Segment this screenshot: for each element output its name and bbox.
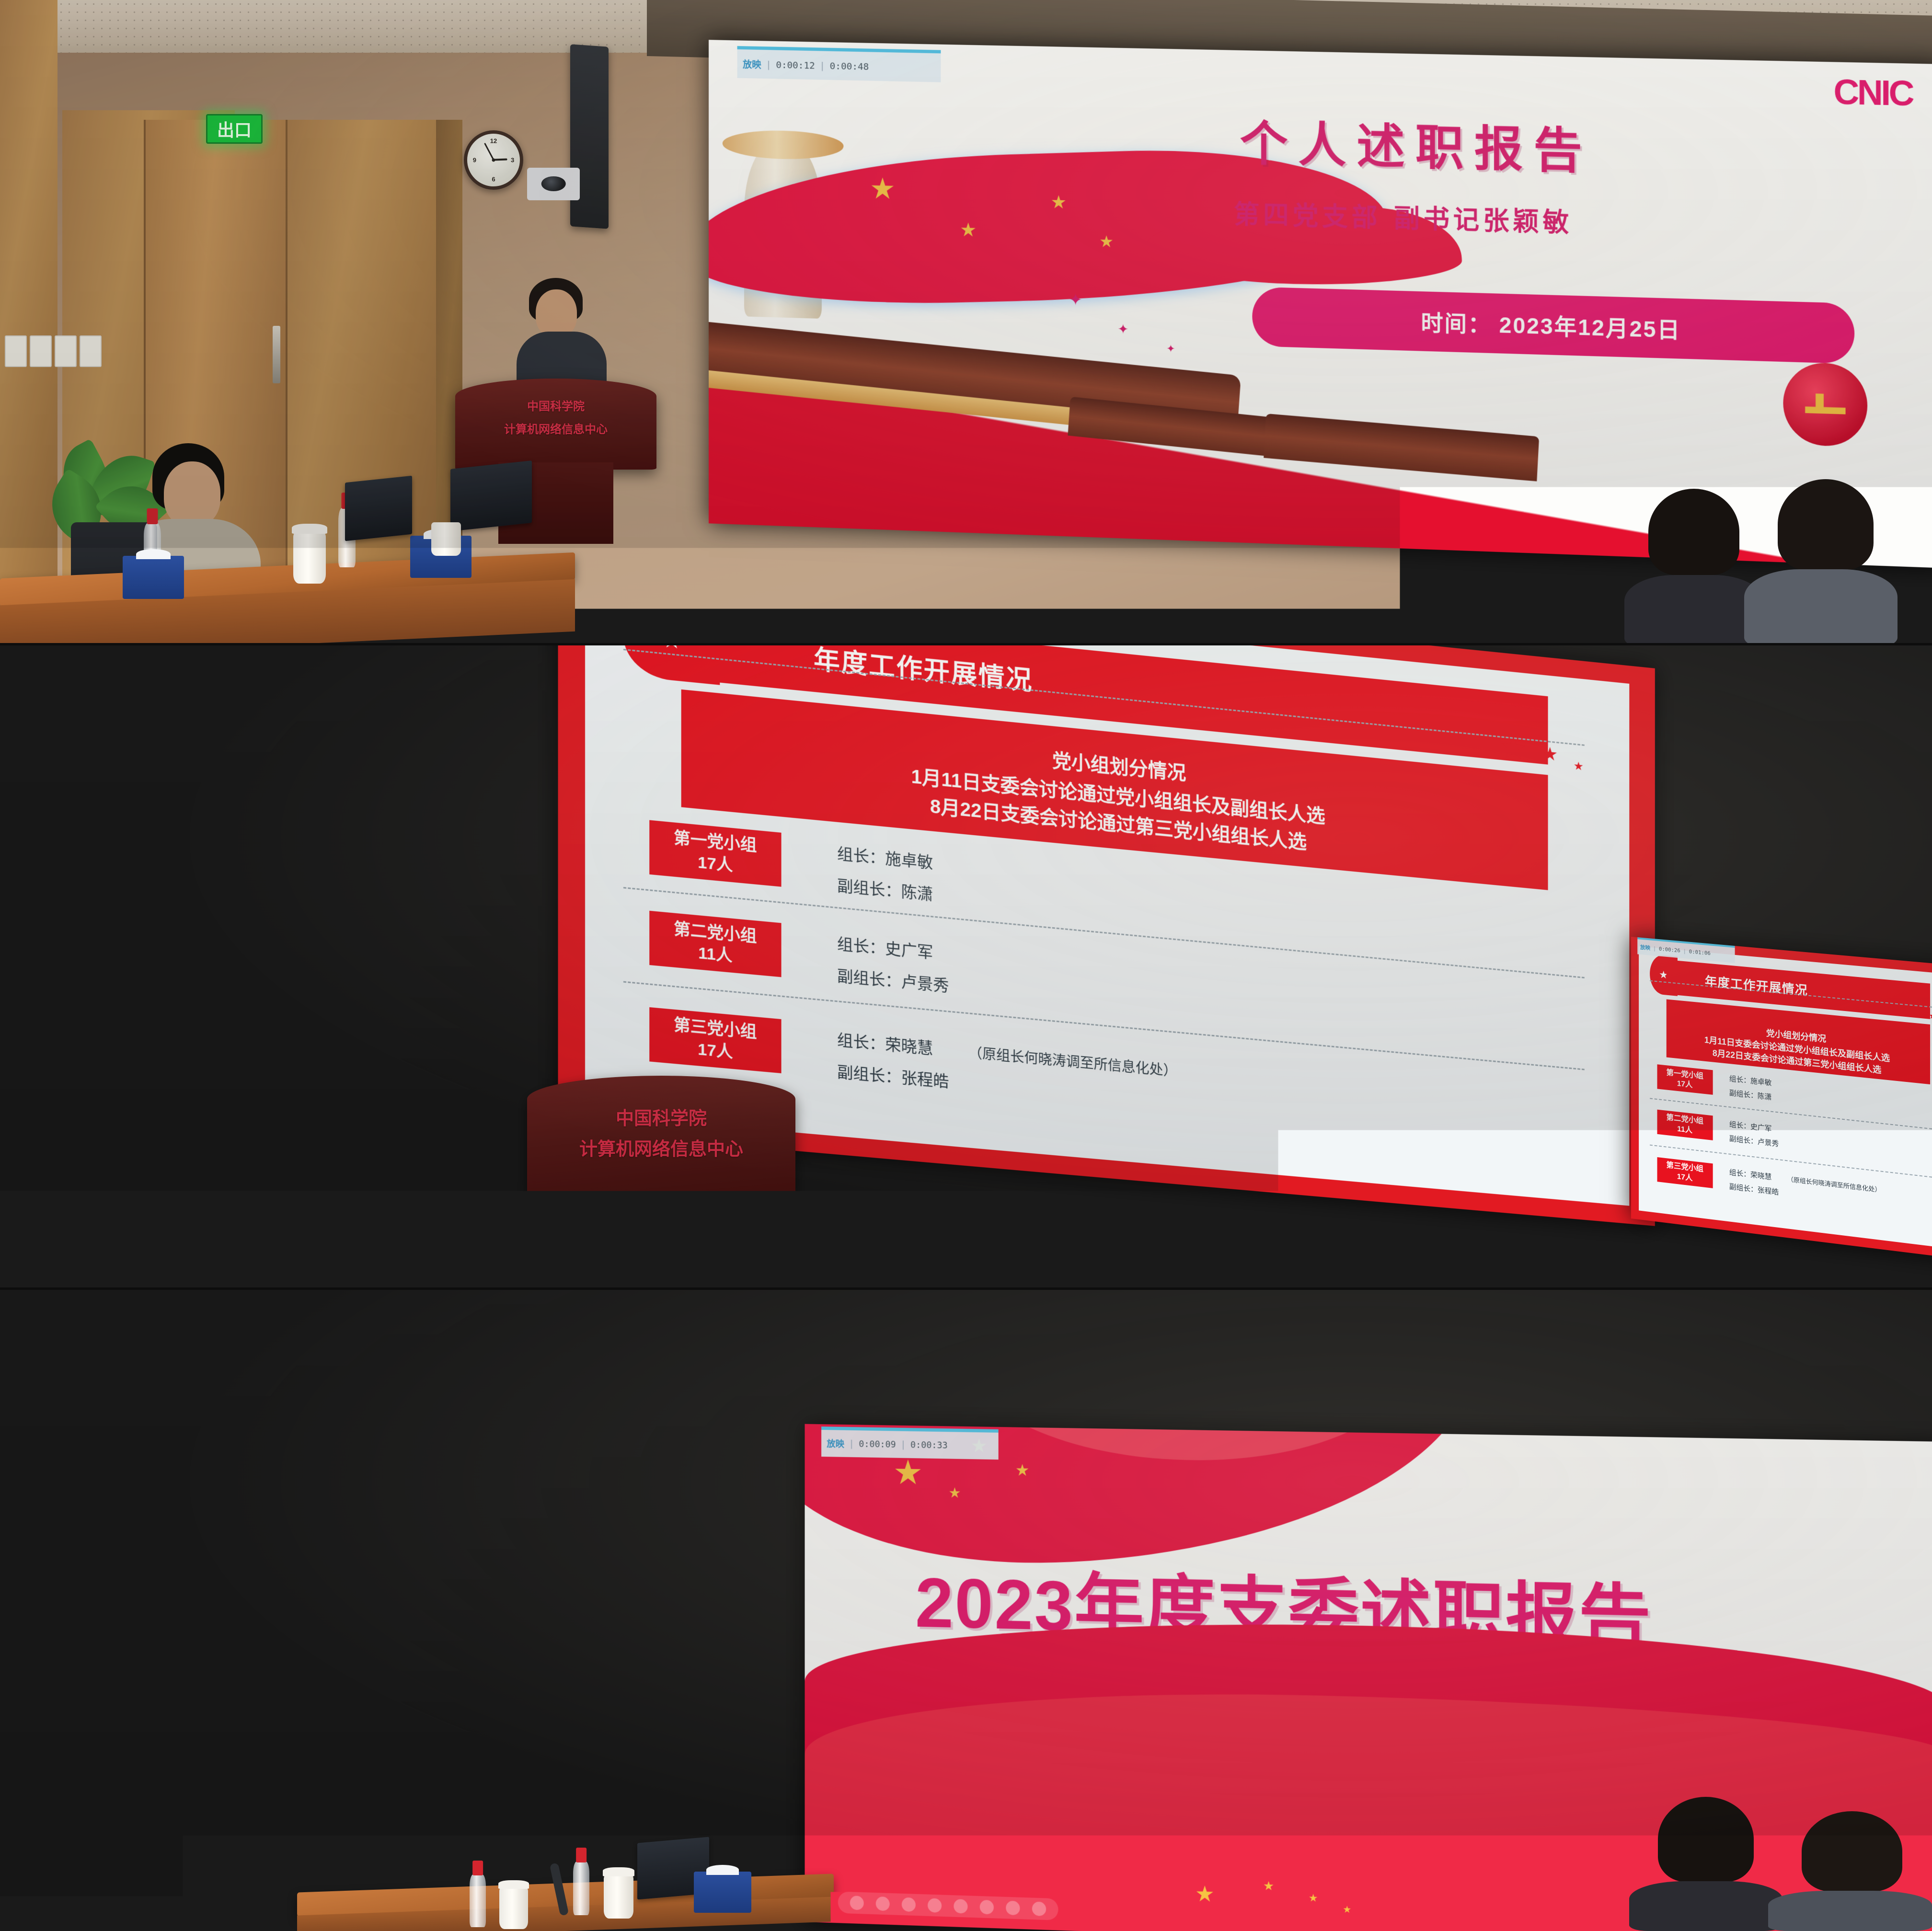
- wood-divider: [139, 1442, 153, 1931]
- deco-star-3: ★: [1574, 759, 1584, 774]
- flag-star-2: ★: [1015, 1462, 1030, 1479]
- foreground-attendee-2: [1768, 1811, 1932, 1931]
- group-info-1: 组长：施卓敏 副组长：陈潇: [837, 838, 933, 911]
- more-icon[interactable]: [1006, 1901, 1020, 1916]
- flag-star-large: ★: [870, 174, 896, 204]
- leader-2: 史广军: [885, 940, 933, 962]
- presenter-panel3: [651, 1644, 794, 1803]
- side-deputy-1: 陈潇: [1758, 1092, 1772, 1102]
- leader-label-1: 组长：: [837, 845, 885, 867]
- side-timer-total: 0:01:06: [1689, 948, 1711, 956]
- side-deco-star-1: ★: [1910, 1000, 1924, 1019]
- foreground-attendee-2: [1744, 479, 1897, 644]
- flag-star-large: ★: [893, 1455, 923, 1490]
- side-deputy-3: 张程皓: [1758, 1186, 1779, 1196]
- presenter-timer-overlay[interactable]: 放映 | 0:00:12 | 0:00:48: [737, 46, 940, 82]
- water-bottle-1[interactable]: [573, 1862, 589, 1915]
- tissue-box-1[interactable]: [694, 1872, 751, 1913]
- side-deputy-label-3: 副组长：: [1729, 1183, 1758, 1194]
- side-monitor: ★ 年度工作开展情况 ★ ★ 党小组划分情况 1月11日支委会讨论通过党小组组长…: [1631, 937, 1932, 1260]
- side-group-info-1: 组长：施卓敏 副组长：陈潇: [1729, 1072, 1772, 1105]
- tea-mug-2[interactable]: [431, 522, 461, 556]
- side-leader-2: 史广军: [1750, 1123, 1771, 1133]
- podium-panel2: 中国科学院 计算机网络信息中心: [527, 1076, 795, 1195]
- podium-line-1: 中国科学院: [690, 1809, 757, 1828]
- side-group-tag-1: 第一党小组 17人: [1657, 1065, 1713, 1095]
- comment-icon[interactable]: [979, 1900, 993, 1915]
- side-deputy-2: 卢景秀: [1758, 1138, 1779, 1148]
- cnic-logo: CNIC: [1833, 72, 1912, 114]
- flag-star-1: ★: [960, 220, 977, 240]
- deputy-1: 陈潇: [901, 883, 933, 903]
- light-switch-3[interactable]: [55, 335, 77, 367]
- timer-label: 放映: [827, 1437, 844, 1450]
- bottom-star-3: ★: [1309, 1893, 1318, 1904]
- exit-sign: 出口: [379, 1556, 431, 1583]
- highlighter-icon[interactable]: [928, 1898, 942, 1912]
- light-switch-2[interactable]: [30, 335, 52, 367]
- dove-icon-2: ✦: [1117, 322, 1128, 336]
- timer-elapsed: 0:00:12: [776, 59, 815, 71]
- flag-star-2: ★: [1051, 193, 1067, 212]
- side-leader-1: 施卓敏: [1750, 1077, 1771, 1088]
- side-deputy-label-2: 副组长：: [1729, 1135, 1758, 1146]
- side-timer-label: 放映: [1640, 943, 1650, 952]
- flag-star-3: ★: [948, 1486, 961, 1501]
- group-info-2: 组长：史广军 副组长：卢景秀: [837, 929, 949, 1002]
- podium-line-2: 计算机网络信息中心: [504, 420, 608, 437]
- deputy-label-2: 副组长：: [837, 967, 901, 991]
- side-leader-label-3: 组长：: [1729, 1168, 1750, 1179]
- leader-3: 荣晓慧: [885, 1035, 933, 1057]
- side-group-tag-2: 第二党小组 11人: [1657, 1109, 1713, 1140]
- wall-clock: 12 3 6 9 1 2 4 5 7 8 10 11: [87, 701, 202, 816]
- water-bottle-2[interactable]: [470, 1874, 486, 1927]
- meeting-room-1: 出口 12 3 6 9 ★ ★ ★ ★: [0, 0, 1932, 644]
- leader-label-2: 组长：: [837, 935, 885, 958]
- flag-star-3: ★: [1099, 234, 1114, 251]
- podium-panel1: 中国科学院 计算机网络信息中心: [455, 379, 656, 470]
- wood-panel-left: [0, 1433, 34, 1931]
- slide-title: 个人述职报告: [1240, 104, 1593, 182]
- conference-camera: [752, 1588, 808, 1623]
- podium-base-panel2: [570, 1193, 752, 1289]
- back-icon[interactable]: [1032, 1901, 1046, 1916]
- group-tag-2: 第二党小组 11人: [649, 911, 781, 977]
- tea-mug-3[interactable]: [1524, 565, 1562, 611]
- side-leader-3: 荣晓慧: [1750, 1171, 1771, 1181]
- slides-icon[interactable]: [954, 1899, 967, 1914]
- panel-1-personal-report: 出口 12 3 6 9 ★ ★ ★ ★: [0, 0, 1932, 644]
- photo-collage: 出口 12 3 6 9 ★ ★ ★ ★: [0, 0, 1932, 1931]
- bottom-star-1: ★: [1195, 1883, 1215, 1905]
- presenter-head: [536, 289, 577, 337]
- side-group-row-3: 第三党小组 17人 组长：荣晓慧 （原组长何晓涛调至所信息化处） 副组长：张程皓: [1657, 1157, 1932, 1218]
- deputy-label-1: 副组长：: [837, 876, 901, 900]
- tissue-box-1[interactable]: [123, 556, 184, 599]
- clock-hour-hand: [494, 159, 507, 161]
- tea-mug-1[interactable]: [604, 1874, 633, 1919]
- side-group-info-2: 组长：史广军 副组长：卢景秀: [1729, 1117, 1779, 1151]
- ceiling-vent: [517, 1362, 551, 1374]
- light-switch-1[interactable]: [192, 1787, 213, 1819]
- podium-line-2: 计算机网络信息中心: [579, 1134, 743, 1161]
- foreground-attendee-1: [1629, 1797, 1782, 1931]
- timer-label: 放映: [743, 57, 761, 71]
- presenter-timer-overlay[interactable]: 放映 | 0:00:09 | 0:00:33: [821, 1427, 999, 1460]
- tissue-box-3[interactable]: [1418, 589, 1476, 631]
- presenter-head: [697, 1659, 753, 1726]
- ceiling-speaker: [570, 44, 609, 229]
- light-switch-4[interactable]: [80, 335, 102, 367]
- timer-elapsed: 0:00:09: [859, 1439, 896, 1450]
- side-timer-elapsed: 0:00:26: [1659, 945, 1680, 954]
- tea-mug-1[interactable]: [293, 532, 326, 584]
- deco-star-2: ★: [1542, 743, 1558, 766]
- side-group-tag-3: 第三党小组 17人: [1657, 1157, 1713, 1188]
- side-leader-label-2: 组长：: [1729, 1120, 1750, 1131]
- leader-label-3: 组长：: [837, 1031, 885, 1053]
- water-bottle-3[interactable]: [1586, 1874, 1603, 1930]
- timer-total: 0:00:33: [910, 1439, 948, 1450]
- panel-2-annual-work-slide: 12 3 6 9 1 2 4 5 7 8 10 11: [0, 644, 1932, 1289]
- conference-camera: [527, 168, 580, 200]
- group-info-3: 组长：荣晓慧 （原组长何晓涛调至所信息化处） 副组长：张程皓: [837, 1024, 1177, 1118]
- foreground-attendee-1: [1620, 489, 1763, 644]
- wood-panel-a: [43, 1442, 139, 1931]
- side-deputy-label-1: 副组长：: [1729, 1089, 1758, 1100]
- meeting-room-3: 出口 12 3 6 9 ★ ★ ★ ★ 202: [0, 1289, 1932, 1931]
- bottom-star-4: ★: [1343, 1905, 1351, 1915]
- wall-clock: 12 3 6 9: [464, 130, 523, 190]
- deputy-label-3: 副组长：: [837, 1063, 901, 1086]
- panel-divider-1: [0, 643, 1932, 645]
- side-deco-star-2: ★: [1929, 1011, 1932, 1022]
- deputy-2: 卢景秀: [901, 973, 949, 995]
- meeting-room-2: 12 3 6 9 1 2 4 5 7 8 10 11: [0, 644, 1932, 1289]
- leader-1: 施卓敏: [885, 849, 933, 872]
- group-tag-1: 第一党小组 17人: [649, 820, 781, 886]
- light-switch-1[interactable]: [5, 335, 27, 367]
- presenter-panel2: [249, 889, 498, 1186]
- timer-total: 0:00:48: [830, 60, 869, 72]
- clock-minute-hand: [484, 143, 494, 160]
- side-leader-label-1: 组长：: [1729, 1075, 1750, 1085]
- light-switch-2[interactable]: [217, 1787, 238, 1819]
- laser-icon[interactable]: [875, 1897, 889, 1911]
- side-group-info-3: 组长：荣晓慧 （原组长何晓涛调至所信息化处） 副组长：张程皓: [1729, 1165, 1881, 1212]
- panel-3-committee-report: 出口 12 3 6 9 ★ ★ ★ ★ 202: [0, 1289, 1932, 1931]
- podium-line-1: 中国科学院: [527, 397, 585, 414]
- deputy-3: 张程皓: [901, 1069, 949, 1091]
- bottom-star-2: ★: [1263, 1879, 1274, 1892]
- side-monitor-slide: ★ 年度工作开展情况 ★ ★ 党小组划分情况 1月11日支委会讨论通过党小组组长…: [1631, 937, 1932, 1260]
- panel-divider-2: [0, 1287, 1932, 1290]
- presenter-head: [369, 913, 455, 1013]
- tea-mug-3[interactable]: [1524, 1883, 1561, 1927]
- deco-star-1: ★: [1500, 728, 1528, 768]
- laptop-1[interactable]: [345, 476, 412, 541]
- laptop-2[interactable]: [450, 460, 532, 531]
- group-tag-3: 第三党小组 17人: [649, 1007, 781, 1073]
- dove-icon-1: ✦: [1069, 292, 1082, 309]
- door-handle[interactable]: [273, 326, 280, 383]
- pointer-icon[interactable]: [850, 1896, 863, 1910]
- pen-icon[interactable]: [902, 1897, 916, 1911]
- wall-clock: 12 3 6 9: [621, 1552, 682, 1613]
- tea-mug-2[interactable]: [499, 1887, 528, 1929]
- party-badge-icon: [417, 1085, 429, 1098]
- side-group-row-2: 第二党小组 11人 组长：史广军 副组长：卢景秀: [1657, 1109, 1932, 1169]
- podium-line-1: 中国科学院: [616, 1103, 707, 1130]
- exit-sign: 出口: [206, 114, 263, 144]
